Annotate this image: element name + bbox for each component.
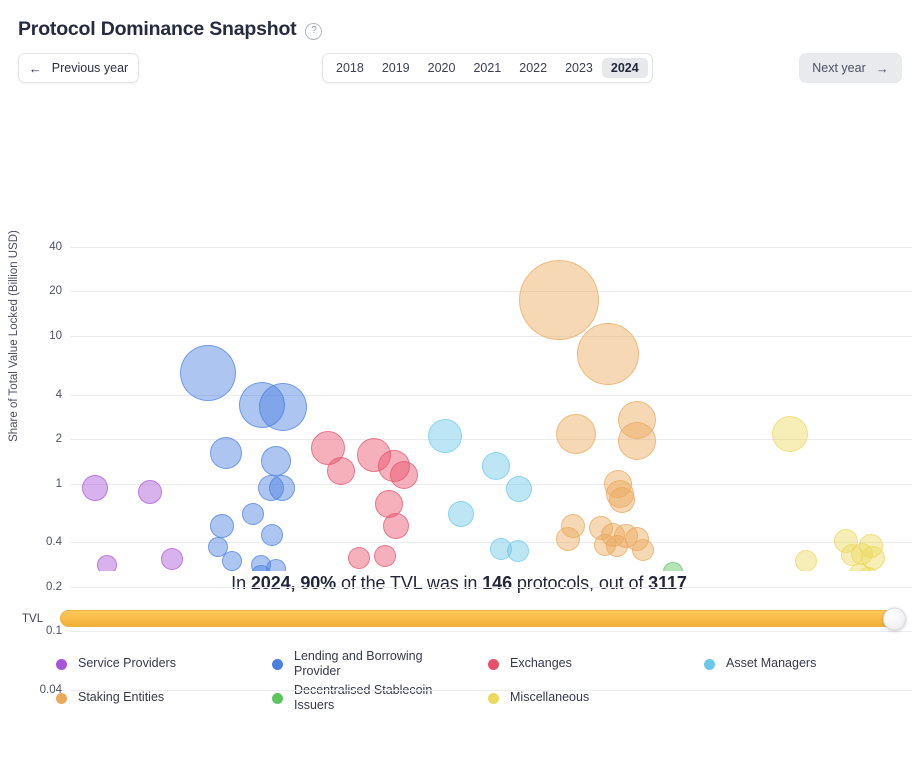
- bubble[interactable]: [138, 480, 162, 504]
- legend-item-exchanges[interactable]: Exchanges: [488, 647, 704, 681]
- legend-item-decentralised-stablecoin-issuers[interactable]: Decentralised Stablecoin Issuers: [272, 681, 488, 715]
- bubble[interactable]: [632, 539, 654, 561]
- bubble[interactable]: [772, 416, 808, 452]
- next-year-label: Next year: [812, 61, 866, 75]
- legend-item-service-providers[interactable]: Service Providers: [56, 647, 272, 681]
- legend-item-label: Decentralised Stablecoin Issuers: [294, 683, 454, 714]
- tvl-slider-row: TVL: [0, 594, 918, 627]
- previous-year-label: Previous year: [52, 61, 128, 75]
- gridline: [70, 631, 912, 632]
- year-option-2021[interactable]: 2021: [464, 58, 510, 79]
- year-option-2024[interactable]: 2024: [602, 58, 648, 79]
- page-header: Protocol Dominance Snapshot ?: [0, 0, 918, 41]
- year-option-2019[interactable]: 2019: [373, 58, 419, 79]
- protocol-dominance-page: Protocol Dominance Snapshot ? ← Previous…: [0, 0, 918, 769]
- bubble[interactable]: [180, 345, 236, 401]
- bubble[interactable]: [556, 414, 596, 454]
- chart-legend: Service ProvidersLending and Borrowing P…: [0, 647, 918, 715]
- caption-total-count: 3117: [648, 573, 687, 593]
- caption-prefix: In: [231, 573, 251, 593]
- y-axis-tick-label: 0.1: [2, 625, 62, 637]
- legend-color-dot: [56, 659, 67, 670]
- bubble[interactable]: [210, 437, 242, 469]
- bubble[interactable]: [390, 461, 418, 489]
- tvl-slider-handle[interactable]: [883, 607, 906, 630]
- legend-item-label: Asset Managers: [726, 656, 816, 671]
- bubble[interactable]: [161, 548, 183, 570]
- tvl-slider-label: TVL: [22, 613, 48, 625]
- bubble[interactable]: [222, 551, 242, 571]
- bubble[interactable]: [261, 446, 291, 476]
- bubble[interactable]: [795, 550, 817, 571]
- legend-item-staking-entities[interactable]: Staking Entities: [56, 681, 272, 715]
- legend-item-label: Service Providers: [78, 656, 176, 671]
- year-selector[interactable]: 2018201920202021202220232024: [322, 53, 653, 83]
- caption-suffix: protocols, out of: [512, 573, 648, 593]
- legend-color-dot: [704, 659, 715, 670]
- bubble[interactable]: [259, 383, 307, 431]
- year-option-2018[interactable]: 2018: [327, 58, 373, 79]
- chart-plot-area[interactable]: [0, 101, 918, 571]
- bubble[interactable]: [448, 501, 474, 527]
- legend-color-dot: [488, 693, 499, 704]
- year-option-2020[interactable]: 2020: [419, 58, 465, 79]
- bubble[interactable]: [556, 527, 580, 551]
- legend-item-lending-and-borrowing-provider[interactable]: Lending and Borrowing Provider: [272, 647, 488, 681]
- caption-year-percent: 2024, 90%: [251, 573, 336, 593]
- bubble[interactable]: [97, 555, 117, 571]
- caption-protocol-count: 146: [482, 573, 512, 593]
- next-year-button[interactable]: Next year →: [799, 53, 902, 83]
- bubble-chart: Share of Total Value Locked (Billion USD…: [0, 101, 918, 571]
- arrow-left-icon: ←: [29, 61, 42, 76]
- year-option-2023[interactable]: 2023: [556, 58, 602, 79]
- page-title: Protocol Dominance Snapshot: [18, 18, 296, 41]
- bubble[interactable]: [261, 524, 283, 546]
- legend-item-label: Lending and Borrowing Provider: [294, 649, 454, 680]
- bubble[interactable]: [327, 457, 355, 485]
- legend-item-label: Exchanges: [510, 656, 572, 671]
- bubble[interactable]: [482, 452, 510, 480]
- year-option-2022[interactable]: 2022: [510, 58, 556, 79]
- bubble[interactable]: [519, 260, 599, 340]
- help-circle-icon[interactable]: ?: [305, 23, 322, 40]
- legend-color-dot: [272, 693, 283, 704]
- gridline: [70, 587, 912, 588]
- bubble[interactable]: [663, 562, 683, 571]
- legend-item-label: Miscellaneous: [510, 690, 589, 705]
- bubble[interactable]: [269, 475, 295, 501]
- year-controls: ← Previous year 201820192020202120222023…: [0, 53, 918, 97]
- bubble[interactable]: [210, 514, 234, 538]
- gridline: [70, 690, 912, 691]
- bubble[interactable]: [609, 487, 635, 513]
- bubble[interactable]: [577, 323, 639, 385]
- legend-item-label: Staking Entities: [78, 690, 164, 705]
- caption-middle: of the TVL was in: [336, 573, 482, 593]
- bubble[interactable]: [348, 547, 370, 569]
- chart-caption: In 2024, 90% of the TVL was in 146 proto…: [0, 573, 918, 594]
- bubble[interactable]: [374, 545, 396, 567]
- arrow-right-icon: →: [876, 61, 889, 76]
- bubble[interactable]: [507, 540, 529, 562]
- legend-color-dot: [272, 659, 283, 670]
- bubble[interactable]: [618, 422, 656, 460]
- y-axis-tick-label: 0.2: [2, 581, 62, 593]
- bubble[interactable]: [82, 475, 108, 501]
- legend-item-miscellaneous[interactable]: Miscellaneous: [488, 681, 704, 715]
- legend-color-dot: [488, 659, 499, 670]
- previous-year-button[interactable]: ← Previous year: [18, 53, 139, 83]
- y-axis-tick-label: 0.04: [2, 684, 62, 696]
- bubble[interactable]: [242, 503, 264, 525]
- bubble[interactable]: [506, 476, 532, 502]
- bubble[interactable]: [383, 513, 409, 539]
- bubble[interactable]: [428, 419, 462, 453]
- tvl-slider-track[interactable]: [60, 610, 900, 627]
- legend-item-asset-managers[interactable]: Asset Managers: [704, 647, 918, 681]
- bubble[interactable]: [606, 535, 628, 557]
